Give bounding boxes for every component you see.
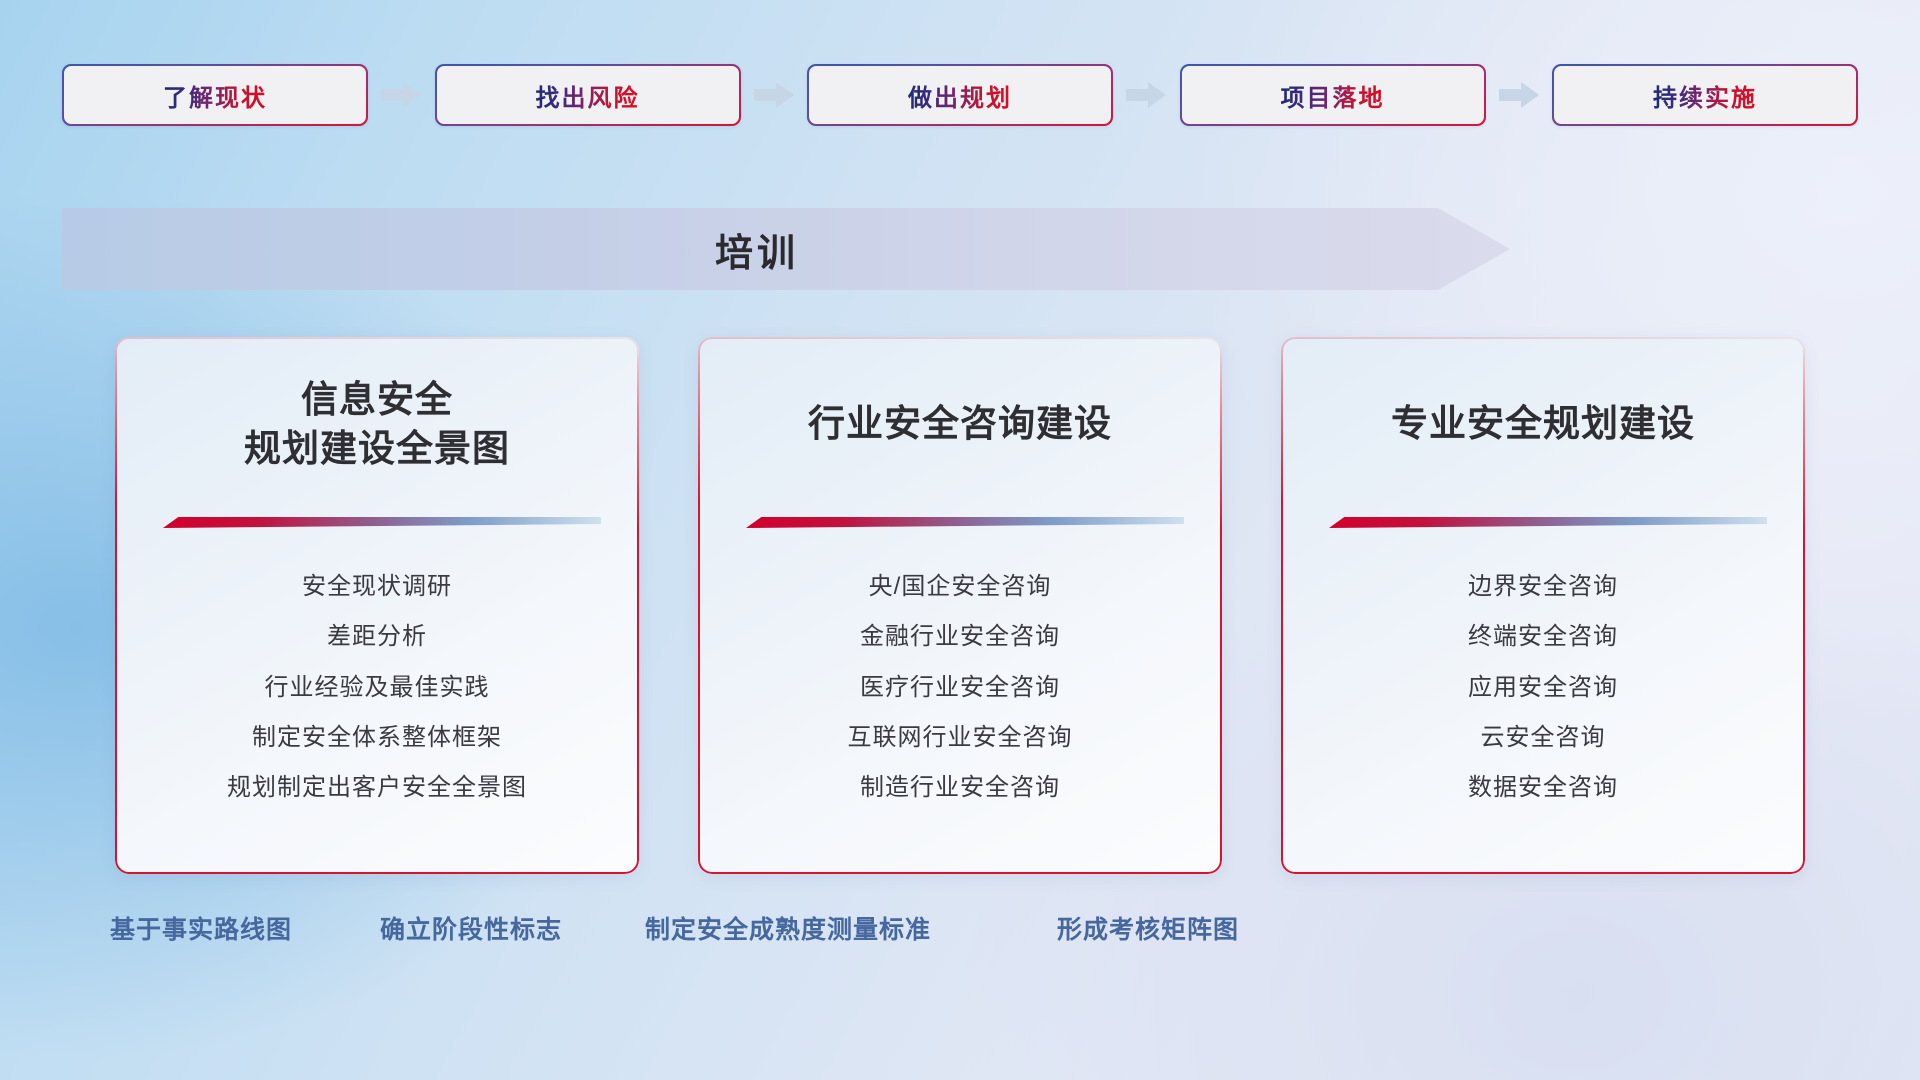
step-box-4[interactable]: 项目落地 xyxy=(1180,64,1486,126)
list-item: 制定安全体系整体框架 xyxy=(252,717,502,758)
process-step-bar: 了解现状 找出风险 做出规划 项目落地 xyxy=(62,64,1858,126)
step-label-2: 找出风险 xyxy=(536,78,640,113)
step-label-3: 做出规划 xyxy=(908,78,1012,113)
arrow-right-icon xyxy=(1126,82,1166,108)
tapered-rule-icon xyxy=(1329,512,1767,530)
list-item: 行业经验及最佳实践 xyxy=(265,667,490,708)
list-item: 差距分析 xyxy=(327,616,427,657)
step-connector-2 xyxy=(741,64,808,126)
list-item: 制造行业安全咨询 xyxy=(860,767,1060,808)
step-connector-4 xyxy=(1486,64,1553,126)
step-label-5: 持续实施 xyxy=(1653,78,1757,113)
slide-canvas: 了解现状 找出风险 做出规划 项目落地 xyxy=(0,0,1920,1080)
list-item: 互联网行业安全咨询 xyxy=(848,717,1073,758)
list-item: 终端安全咨询 xyxy=(1468,616,1618,657)
tapered-rule-icon xyxy=(746,512,1184,530)
step-label-4: 项目落地 xyxy=(1281,78,1385,113)
list-item: 医疗行业安全咨询 xyxy=(860,667,1060,708)
card-2-title-line-1: 行业安全咨询建设 xyxy=(716,400,1204,449)
list-item: 规划制定出客户安全全景图 xyxy=(227,767,527,808)
footer-label-2: 确立阶段性标志 xyxy=(380,910,562,946)
arrow-right-icon xyxy=(1499,82,1539,108)
step-box-1[interactable]: 了解现状 xyxy=(62,64,368,126)
card-2-list: 央/国企安全咨询 金融行业安全咨询 医疗行业安全咨询 互联网行业安全咨询 制造行… xyxy=(716,530,1204,874)
list-item: 边界安全咨询 xyxy=(1468,566,1618,607)
card-2-divider xyxy=(746,512,1184,530)
step-connector-1 xyxy=(368,64,435,126)
card-1-divider xyxy=(163,512,601,530)
card-3[interactable]: 专业安全规划建设 边界安 xyxy=(1281,337,1805,874)
list-item: 金融行业安全咨询 xyxy=(860,616,1060,657)
card-1[interactable]: 信息安全 规划建设全景图 xyxy=(115,337,639,874)
list-item: 云安全咨询 xyxy=(1481,717,1606,758)
step-label-1: 了解现状 xyxy=(163,78,267,113)
step-box-2[interactable]: 找出风险 xyxy=(435,64,741,126)
card-1-title-line-2: 规划建设全景图 xyxy=(133,425,621,474)
footer-label-row: 基于事实路线图 确立阶段性标志 制定安全成熟度测量标准 形成考核矩阵图 xyxy=(0,910,1920,958)
card-1-list: 安全现状调研 差距分析 行业经验及最佳实践 制定安全体系整体框架 规划制定出客户… xyxy=(133,530,621,874)
list-item: 应用安全咨询 xyxy=(1468,667,1618,708)
footer-label-1: 基于事实路线图 xyxy=(110,910,292,946)
training-banner: 培训 xyxy=(62,208,1510,290)
card-2-title: 行业安全咨询建设 xyxy=(716,337,1204,512)
banner-title: 培训 xyxy=(62,208,1452,290)
list-item: 数据安全咨询 xyxy=(1468,767,1618,808)
step-box-3[interactable]: 做出规划 xyxy=(807,64,1113,126)
card-2[interactable]: 行业安全咨询建设 央/国 xyxy=(698,337,1222,874)
step-connector-3 xyxy=(1113,64,1180,126)
tapered-rule-icon xyxy=(163,512,601,530)
step-box-5[interactable]: 持续实施 xyxy=(1552,64,1858,126)
card-3-list: 边界安全咨询 终端安全咨询 应用安全咨询 云安全咨询 数据安全咨询 xyxy=(1299,530,1787,874)
card-1-title: 信息安全 规划建设全景图 xyxy=(133,337,621,512)
card-3-divider xyxy=(1329,512,1767,530)
footer-label-3: 制定安全成熟度测量标准 xyxy=(645,910,931,946)
footer-label-4: 形成考核矩阵图 xyxy=(1057,910,1239,946)
list-item: 安全现状调研 xyxy=(302,566,452,607)
card-group: 信息安全 规划建设全景图 xyxy=(115,337,1805,874)
card-3-title-line-1: 专业安全规划建设 xyxy=(1299,400,1787,449)
card-3-title: 专业安全规划建设 xyxy=(1299,337,1787,512)
list-item: 央/国企安全咨询 xyxy=(869,566,1052,607)
arrow-right-icon xyxy=(381,82,421,108)
card-1-title-line-1: 信息安全 xyxy=(133,376,621,425)
arrow-right-icon xyxy=(754,82,794,108)
